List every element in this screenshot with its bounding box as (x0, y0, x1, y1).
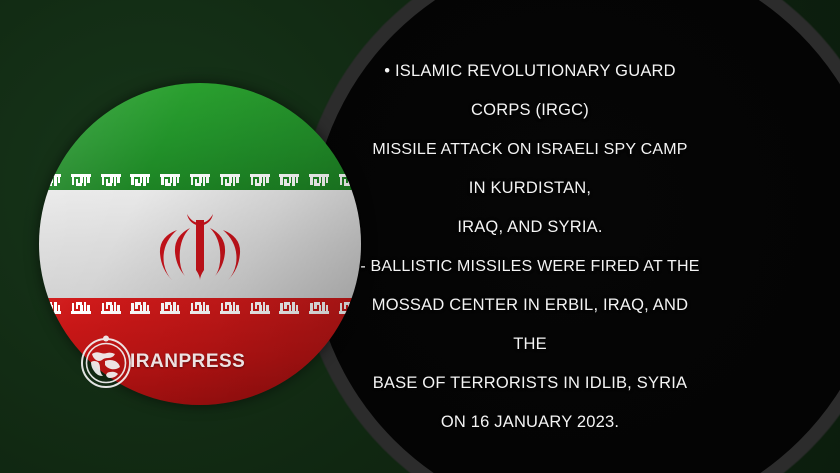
kufic-takbir-glyph (309, 300, 329, 314)
kufic-takbir-glyph (130, 174, 150, 188)
headline-line: IN KURDISTAN, (338, 169, 722, 208)
kufic-takbir-glyph (220, 300, 240, 314)
kufic-takbir-glyph (309, 174, 329, 188)
iranpress-watermark: IRANPRESS (78, 334, 245, 390)
kufic-takbir-glyph (160, 174, 180, 188)
kufic-takbir-glyph (101, 174, 121, 188)
iran-national-emblem-icon (157, 206, 243, 282)
kufic-takbir-glyph (160, 300, 180, 314)
headline-line: BASE OF TERRORISTS IN IDLIB, SYRIA (338, 364, 722, 403)
headline-text-block: • ISLAMIC REVOLUTIONARY GUARD CORPS (IRG… (338, 52, 722, 442)
headline-line: MISSILE ATTACK ON ISRAELI SPY CAMP (338, 130, 722, 169)
headline-line: CORPS (IRGC) (338, 91, 722, 130)
kufic-takbir-glyph (71, 300, 91, 314)
kufic-takbir-glyph (279, 174, 299, 188)
kufic-band-bottom (39, 299, 361, 315)
watermark-brand-label: IRANPRESS (130, 351, 245, 373)
headline-line: • ISLAMIC REVOLUTIONARY GUARD (338, 52, 722, 91)
kufic-takbir-glyph (220, 174, 240, 188)
kufic-takbir-glyph (71, 174, 91, 188)
headline-line: ON 16 JANUARY 2023. (338, 403, 722, 442)
headline-line: MOSSAD CENTER IN ERBIL, IRAQ, AND (338, 286, 722, 325)
globe-icon (78, 334, 134, 390)
headline-line: IRAQ, AND SYRIA. (338, 208, 722, 247)
kufic-band-top (39, 173, 361, 189)
kufic-takbir-glyph (190, 300, 210, 314)
headline-line: - BALLISTIC MISSILES WERE FIRED AT THE (338, 247, 722, 286)
kufic-takbir-glyph (279, 300, 299, 314)
headline-line: THE (338, 325, 722, 364)
news-graphic-card: IRANPRESS • ISLAMIC REVOLUTIONARY GUARD … (0, 0, 840, 473)
kufic-takbir-glyph (41, 174, 61, 188)
kufic-takbir-glyph (190, 174, 210, 188)
kufic-takbir-glyph (250, 300, 270, 314)
kufic-takbir-glyph (101, 300, 121, 314)
kufic-takbir-glyph (250, 174, 270, 188)
kufic-takbir-glyph (130, 300, 150, 314)
kufic-takbir-glyph (41, 300, 61, 314)
